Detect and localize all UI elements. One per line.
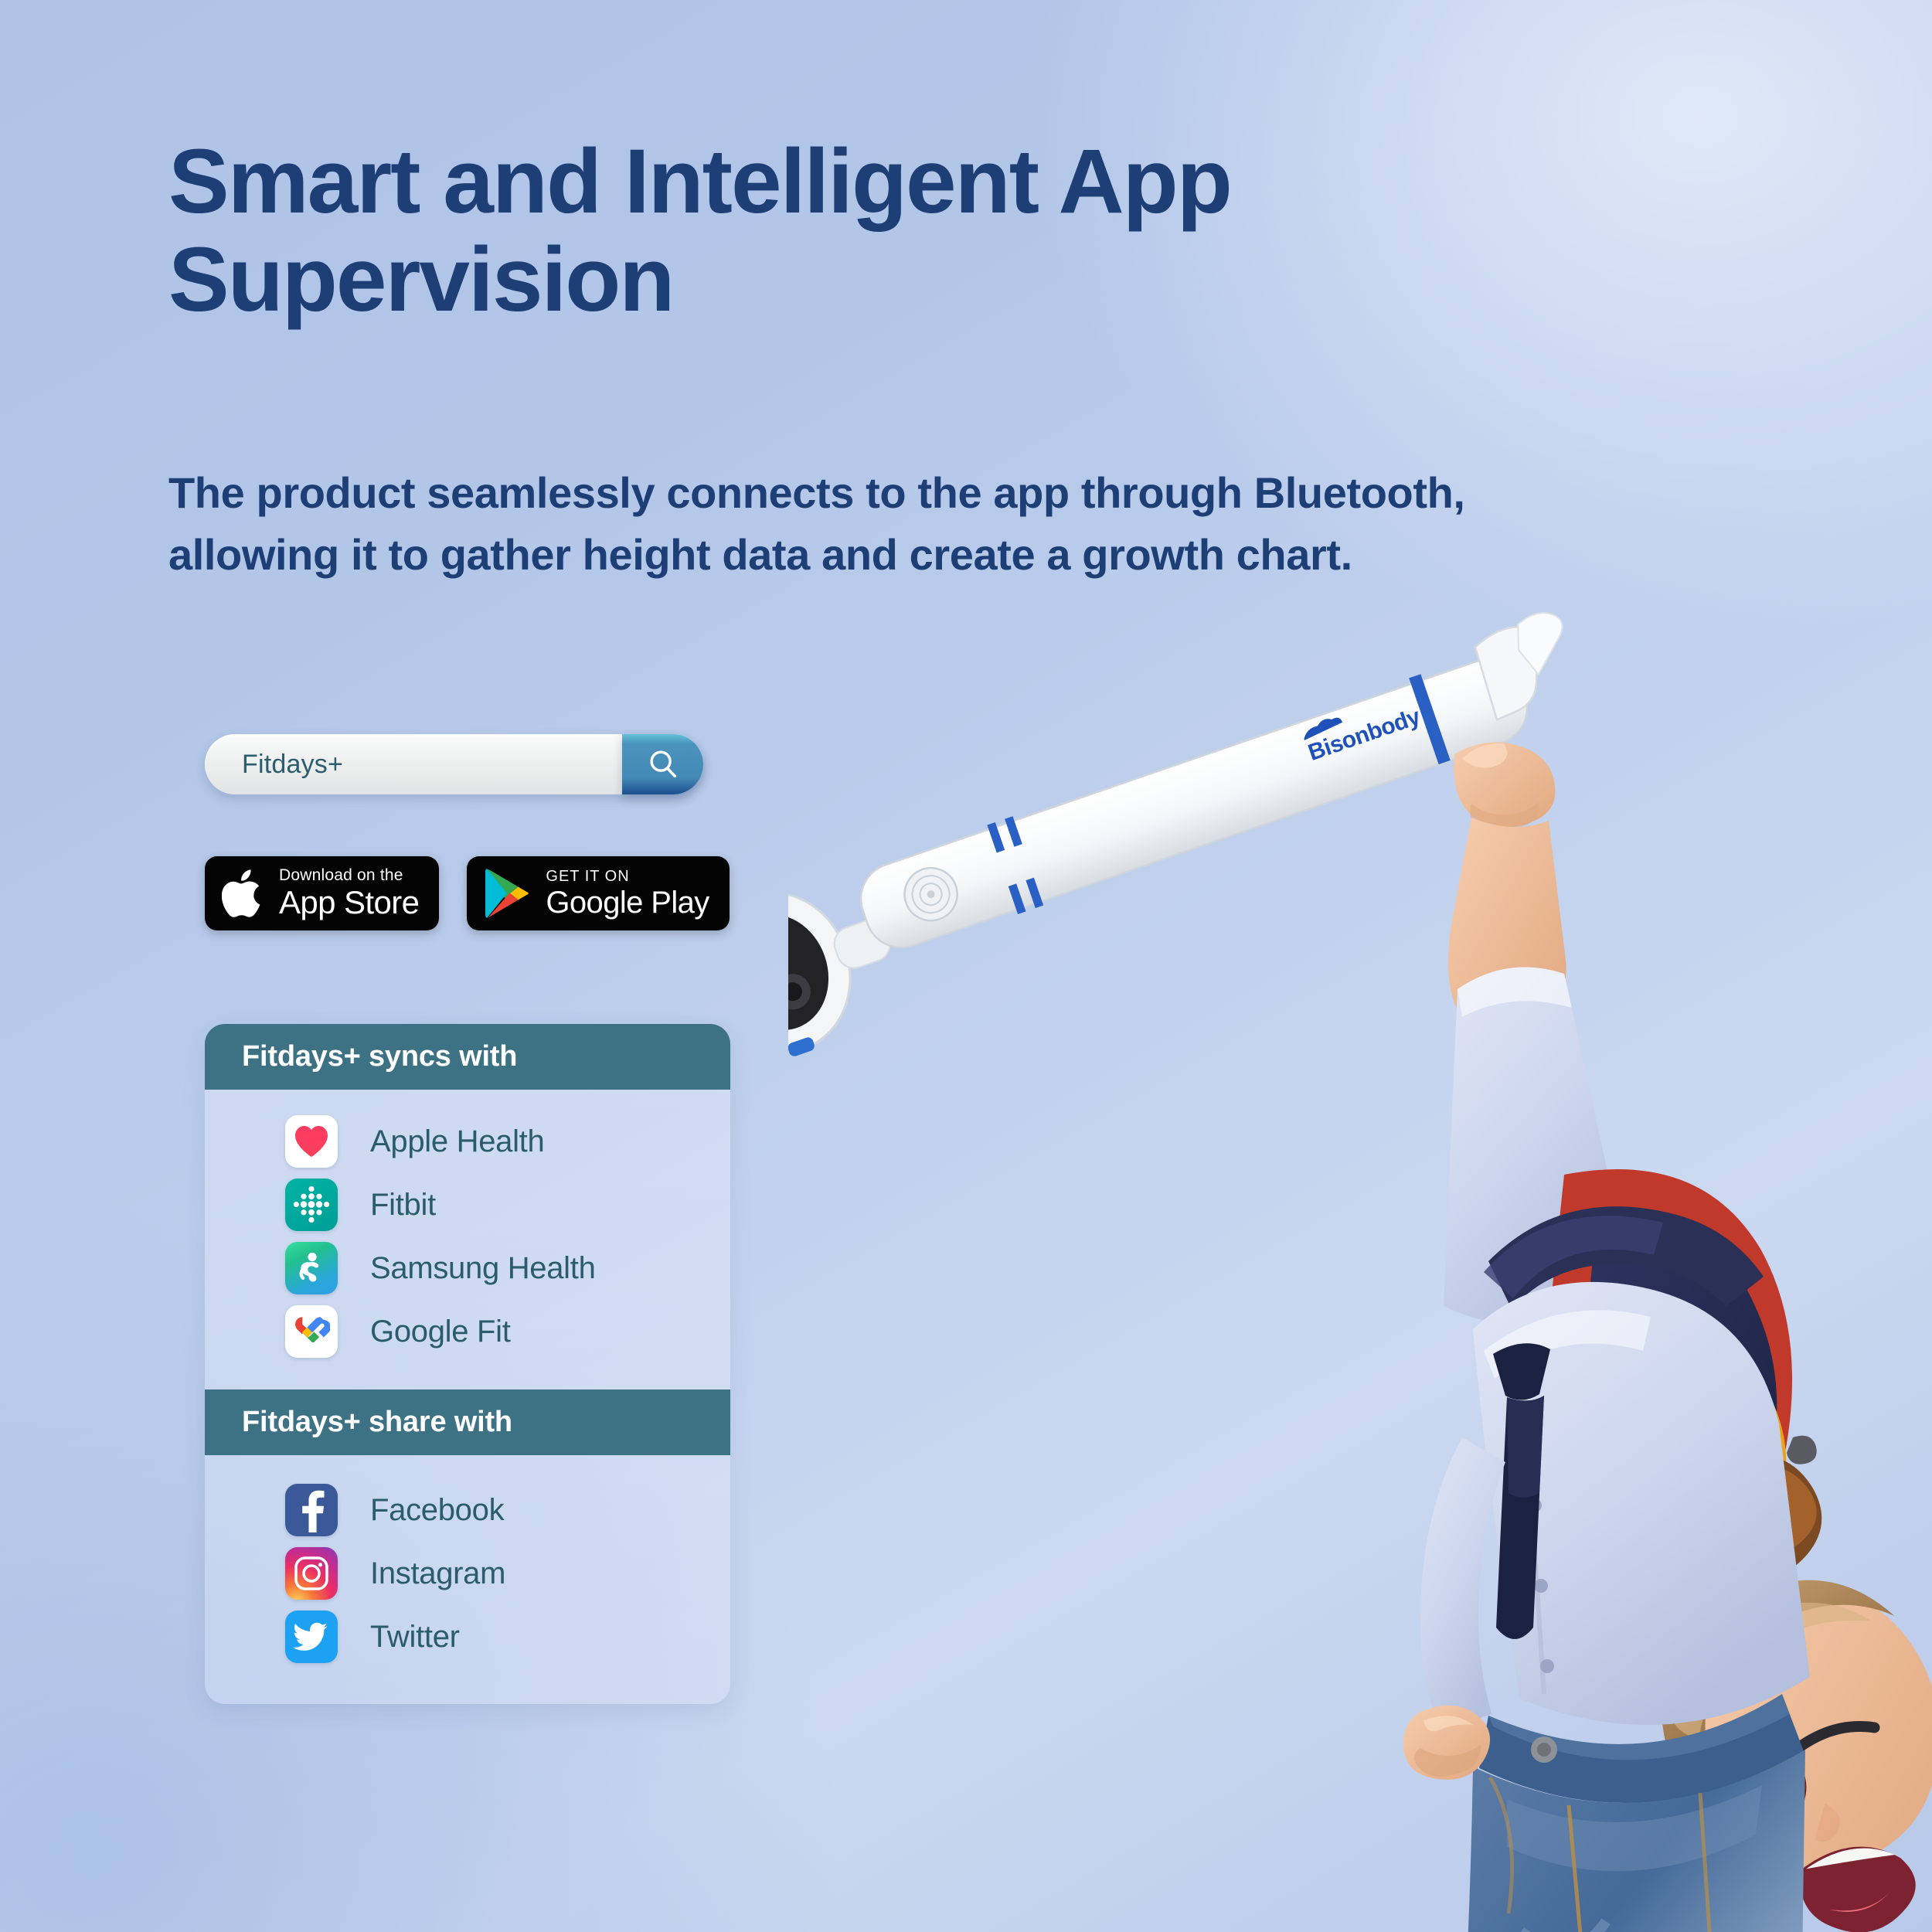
list-item-label: Facebook <box>370 1493 504 1528</box>
search-input-value: Fitdays+ <box>242 734 343 794</box>
store-badge-row: Download on the App Store GET IT ON Goog… <box>205 856 730 930</box>
twitter-icon <box>285 1611 338 1663</box>
share-list: Facebook Instagram Twi <box>205 1455 730 1704</box>
list-item-label: Instagram <box>370 1556 505 1591</box>
list-item-samsung-health[interactable]: Samsung Health <box>205 1236 730 1300</box>
product-hero-photo: Bisonbody <box>788 572 1932 1932</box>
list-item-label: Fitbit <box>370 1188 436 1223</box>
list-item-label: Google Fit <box>370 1315 511 1349</box>
apple-health-icon <box>285 1115 338 1168</box>
app-store-badge[interactable]: Download on the App Store <box>205 856 439 930</box>
share-section-title: Fitdays+ share with <box>205 1389 730 1455</box>
page-title: Smart and Intelligent App Supervision <box>168 133 1560 330</box>
fitbit-icon <box>285 1179 338 1231</box>
app-search-bar[interactable]: Fitdays+ <box>205 734 703 794</box>
search-button[interactable] <box>622 734 703 794</box>
sync-section-title: Fitdays+ syncs with <box>205 1024 730 1090</box>
google-play-badge[interactable]: GET IT ON Google Play <box>467 856 729 930</box>
page-subtitle: The product seamlessly connects to the a… <box>168 462 1753 585</box>
list-item-label: Twitter <box>370 1620 460 1655</box>
instagram-icon <box>285 1547 338 1600</box>
app-store-badge-small: Download on the <box>279 867 419 884</box>
google-play-triangle-icon <box>484 866 533 920</box>
list-item-label: Samsung Health <box>370 1251 596 1286</box>
list-item-twitter[interactable]: Twitter <box>205 1605 730 1668</box>
list-item-fitbit[interactable]: Fitbit <box>205 1173 730 1236</box>
sync-list: Apple Health <box>205 1090 730 1389</box>
integration-card: Fitdays+ syncs with Apple Health <box>205 1024 730 1704</box>
google-play-badge-label: Google Play <box>546 886 709 919</box>
google-fit-icon <box>285 1305 338 1358</box>
list-item-instagram[interactable]: Instagram <box>205 1542 730 1605</box>
apple-logo-icon <box>222 867 267 920</box>
google-play-badge-small: GET IT ON <box>546 869 709 885</box>
list-item-label: Apple Health <box>370 1124 544 1159</box>
list-item-facebook[interactable]: Facebook <box>205 1478 730 1542</box>
app-store-badge-label: App Store <box>279 886 419 920</box>
list-item-apple-health[interactable]: Apple Health <box>205 1110 730 1173</box>
poster-canvas: Smart and Intelligent App Supervision Th… <box>0 0 1932 1932</box>
facebook-icon <box>285 1484 338 1536</box>
search-icon <box>645 747 681 782</box>
samsung-health-icon <box>285 1242 338 1294</box>
list-item-google-fit[interactable]: Google Fit <box>205 1300 730 1363</box>
